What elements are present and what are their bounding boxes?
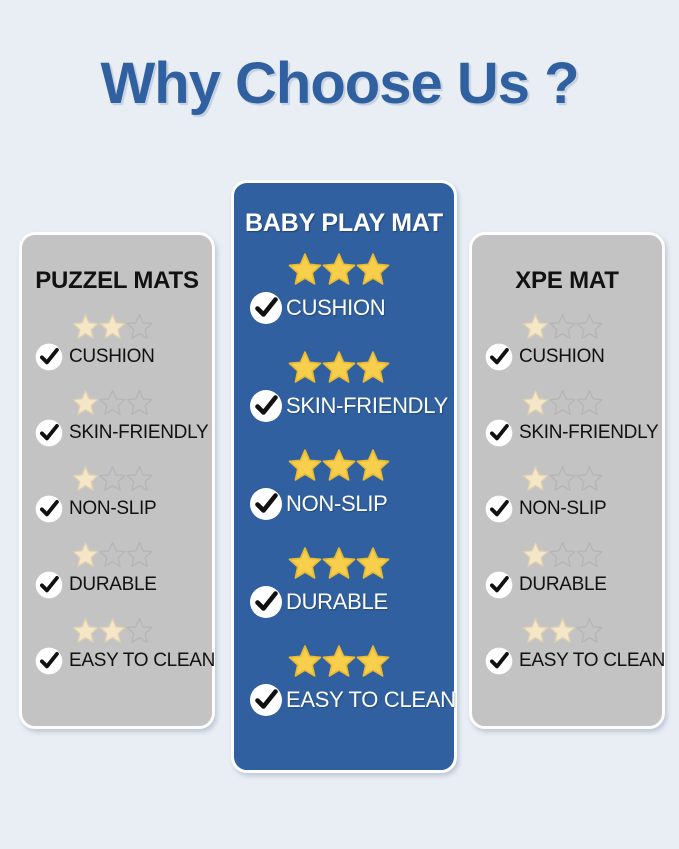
check-icon [248, 682, 284, 718]
star-filled-icon [522, 465, 549, 492]
star-rating [234, 644, 454, 678]
feature-line: CUSHION [22, 342, 212, 372]
star-rating [472, 313, 662, 340]
star-empty-icon [549, 389, 576, 416]
star-filled-icon [549, 617, 576, 644]
star-filled-icon [72, 313, 99, 340]
star-empty-icon [576, 541, 603, 568]
check-icon [484, 342, 514, 372]
star-filled-icon [72, 389, 99, 416]
star-filled-icon [356, 546, 390, 580]
feature-line: NON-SLIP [234, 486, 454, 522]
feature-line: EASY TO CLEAN [234, 682, 454, 718]
star-empty-icon [126, 389, 153, 416]
star-filled-icon [356, 252, 390, 286]
star-rating [22, 389, 212, 416]
star-rating [234, 252, 454, 286]
check-icon [248, 290, 284, 326]
feature-label: EASY TO CLEAN [69, 650, 215, 672]
star-rating [472, 541, 662, 568]
feature-list-puzzel-mats: CUSHIONSKIN-FRIENDLYNON-SLIPDURABLEEASY … [22, 313, 212, 693]
star-empty-icon [99, 541, 126, 568]
star-filled-icon [99, 313, 126, 340]
feature-label: DURABLE [69, 574, 157, 596]
star-rating [472, 617, 662, 644]
star-filled-icon [288, 546, 322, 580]
star-rating [472, 465, 662, 492]
feature-row: CUSHION [234, 252, 454, 350]
feature-label: CUSHION [69, 346, 155, 368]
card-title-xpe-mat: XPE MAT [472, 267, 662, 295]
star-empty-icon [99, 465, 126, 492]
star-filled-icon [356, 448, 390, 482]
product-card-baby-play-mat: BABY PLAY MATCUSHIONSKIN-FRIENDLYNON-SLI… [231, 180, 457, 773]
star-rating [234, 546, 454, 580]
card-title-baby-play-mat: BABY PLAY MAT [234, 209, 454, 238]
feature-line: NON-SLIP [22, 494, 212, 524]
check-icon [248, 388, 284, 424]
card-title-puzzel-mats: PUZZEL MATS [22, 267, 212, 295]
star-rating [22, 541, 212, 568]
product-card-xpe-mat: XPE MATCUSHIONSKIN-FRIENDLYNON-SLIPDURAB… [469, 232, 665, 729]
check-icon [248, 486, 284, 522]
star-rating [22, 465, 212, 492]
star-filled-icon [288, 448, 322, 482]
star-rating [472, 389, 662, 416]
feature-line: DURABLE [234, 584, 454, 620]
star-rating [22, 617, 212, 644]
check-icon [34, 570, 64, 600]
check-icon [34, 494, 64, 524]
feature-line: SKIN-FRIENDLY [22, 418, 212, 448]
feature-row: DURABLE [472, 541, 662, 617]
star-rating [234, 448, 454, 482]
check-icon [484, 646, 514, 676]
feature-line: NON-SLIP [472, 494, 662, 524]
star-filled-icon [72, 541, 99, 568]
star-filled-icon [522, 313, 549, 340]
feature-list-baby-play-mat: CUSHIONSKIN-FRIENDLYNON-SLIPDURABLEEASY … [234, 252, 454, 742]
star-filled-icon [522, 389, 549, 416]
check-icon [248, 584, 284, 620]
feature-label: NON-SLIP [286, 491, 388, 517]
feature-label: NON-SLIP [69, 498, 156, 520]
feature-row: SKIN-FRIENDLY [22, 389, 212, 465]
star-filled-icon [99, 617, 126, 644]
feature-label: NON-SLIP [519, 498, 606, 520]
star-filled-icon [72, 617, 99, 644]
feature-row: NON-SLIP [234, 448, 454, 546]
feature-row: SKIN-FRIENDLY [234, 350, 454, 448]
star-filled-icon [356, 350, 390, 384]
feature-line: CUSHION [472, 342, 662, 372]
feature-line: EASY TO CLEAN [472, 646, 662, 676]
star-rating [22, 313, 212, 340]
feature-line: CUSHION [234, 290, 454, 326]
feature-row: EASY TO CLEAN [22, 617, 212, 693]
star-filled-icon [322, 644, 356, 678]
star-filled-icon [322, 350, 356, 384]
star-empty-icon [126, 541, 153, 568]
star-empty-icon [99, 389, 126, 416]
check-icon [484, 418, 514, 448]
product-card-puzzel-mats: PUZZEL MATSCUSHIONSKIN-FRIENDLYNON-SLIPD… [19, 232, 215, 729]
star-filled-icon [322, 448, 356, 482]
feature-line: EASY TO CLEAN [22, 646, 212, 676]
star-filled-icon [288, 644, 322, 678]
feature-label: CUSHION [519, 346, 605, 368]
comparison-cards: PUZZEL MATSCUSHIONSKIN-FRIENDLYNON-SLIPD… [0, 0, 679, 849]
feature-label: SKIN-FRIENDLY [286, 393, 448, 419]
check-icon [484, 570, 514, 600]
star-filled-icon [356, 644, 390, 678]
feature-line: DURABLE [22, 570, 212, 600]
feature-row: DURABLE [234, 546, 454, 644]
check-icon [34, 342, 64, 372]
feature-row: CUSHION [22, 313, 212, 389]
feature-line: DURABLE [472, 570, 662, 600]
feature-label: SKIN-FRIENDLY [69, 422, 208, 444]
star-empty-icon [576, 465, 603, 492]
star-rating [234, 350, 454, 384]
feature-list-xpe-mat: CUSHIONSKIN-FRIENDLYNON-SLIPDURABLEEASY … [472, 313, 662, 693]
star-empty-icon [576, 313, 603, 340]
star-filled-icon [522, 617, 549, 644]
check-icon [34, 646, 64, 676]
star-filled-icon [522, 541, 549, 568]
star-empty-icon [549, 465, 576, 492]
star-empty-icon [576, 617, 603, 644]
feature-label: CUSHION [286, 295, 385, 321]
star-filled-icon [288, 252, 322, 286]
star-filled-icon [322, 546, 356, 580]
star-filled-icon [322, 252, 356, 286]
feature-label: SKIN-FRIENDLY [519, 422, 658, 444]
star-filled-icon [288, 350, 322, 384]
feature-row: CUSHION [472, 313, 662, 389]
feature-label: DURABLE [286, 589, 388, 615]
check-icon [34, 418, 64, 448]
feature-row: SKIN-FRIENDLY [472, 389, 662, 465]
feature-row: EASY TO CLEAN [472, 617, 662, 693]
check-icon [484, 494, 514, 524]
feature-row: NON-SLIP [472, 465, 662, 541]
feature-row: DURABLE [22, 541, 212, 617]
star-empty-icon [549, 541, 576, 568]
feature-line: SKIN-FRIENDLY [234, 388, 454, 424]
feature-label: DURABLE [519, 574, 607, 596]
star-empty-icon [126, 313, 153, 340]
star-filled-icon [72, 465, 99, 492]
star-empty-icon [126, 617, 153, 644]
feature-row: EASY TO CLEAN [234, 644, 454, 742]
star-empty-icon [126, 465, 153, 492]
feature-line: SKIN-FRIENDLY [472, 418, 662, 448]
feature-row: NON-SLIP [22, 465, 212, 541]
feature-label: EASY TO CLEAN [286, 687, 456, 713]
star-empty-icon [549, 313, 576, 340]
feature-label: EASY TO CLEAN [519, 650, 665, 672]
star-empty-icon [576, 389, 603, 416]
